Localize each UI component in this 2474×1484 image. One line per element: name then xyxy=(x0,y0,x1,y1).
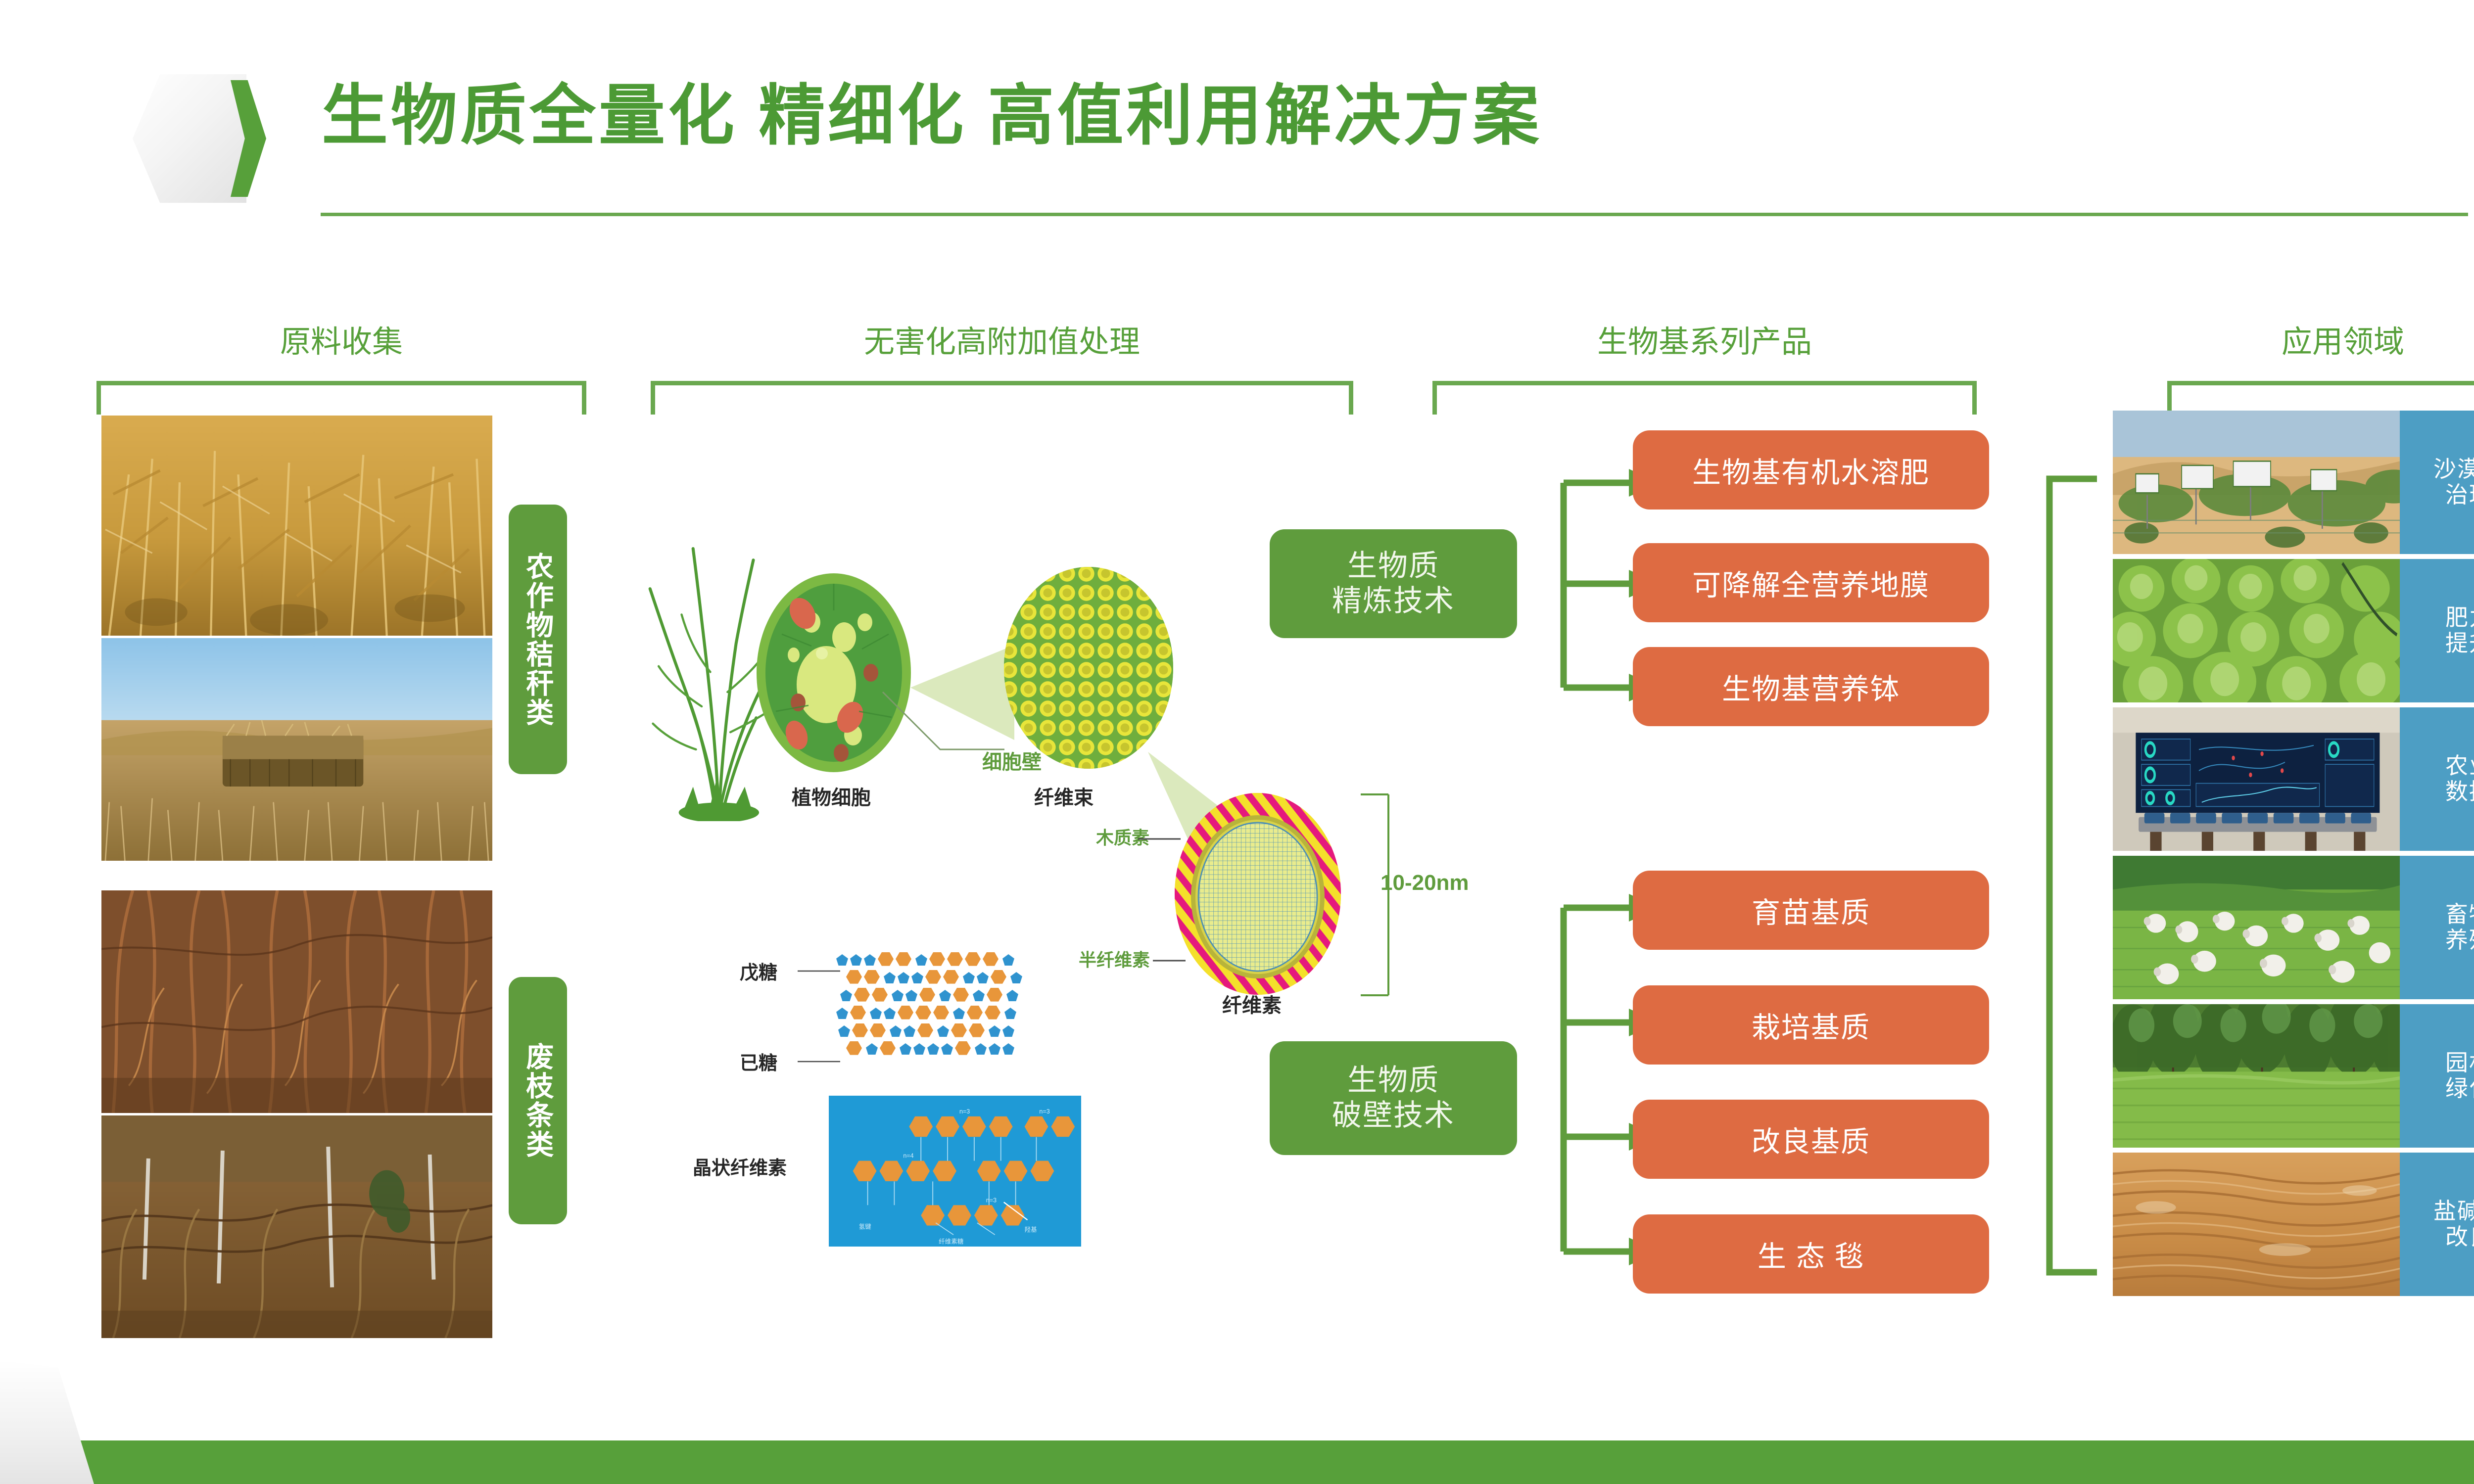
tech-refining-line1: 生物质 xyxy=(1347,549,1439,584)
product-pill-degradable-mulch-film[interactable]: 可降解全营养地膜 xyxy=(1633,543,1989,622)
tech-refining-line2: 精炼技术 xyxy=(1332,584,1455,619)
application-label-soil-fertility: 肥力 提升 xyxy=(2400,559,2474,702)
app-desert-line1: 沙漠化 xyxy=(2433,457,2474,482)
app-saline-line2: 改良 xyxy=(2445,1224,2474,1250)
label-cell-wall: 细胞壁 xyxy=(982,746,1042,775)
svg-text:n=3: n=3 xyxy=(986,1197,997,1204)
tech-breaking-line1: 生物质 xyxy=(1347,1063,1439,1098)
section-header-collection: 原料收集 xyxy=(129,317,554,361)
vertical-tag-crop-straw: 农作物秸秆类 xyxy=(509,505,567,774)
hexose-leader-line xyxy=(798,1059,842,1064)
product-pill-nutrition-pot[interactable]: 生物基营养钵 xyxy=(1633,647,1989,726)
product-pill-cultivation-substrate[interactable]: 栽培基质 xyxy=(1633,985,1989,1065)
app-livestock-line1: 畜牧 xyxy=(2445,902,2474,927)
photo-dry-branches xyxy=(101,890,492,1113)
app-desert-line2: 治理 xyxy=(2445,482,2474,508)
fiber-bundle-illustration xyxy=(999,564,1178,772)
page-title: 生物质全量化 精细化 高值利用解决方案 xyxy=(322,83,1542,149)
crystalline-cellulose-panel: n=3n=3 n=4n=3 氢键羟基 纤维素糖 xyxy=(829,1096,1081,1247)
label-hexose: 已糖 xyxy=(740,1048,777,1075)
infographic-canvas: 生物质全量化 精细化 高值利用解决方案 原料收集 无害化高附加值处理 生物基系列… xyxy=(0,0,2474,1484)
application-row-livestock[interactable]: 畜牧 养殖 xyxy=(2113,856,2474,999)
bracket-applications xyxy=(2167,381,2474,415)
footer-green-bar xyxy=(0,1440,2474,1484)
photo-desert-restoration xyxy=(2113,411,2400,554)
application-label-saline-alkali: 盐碱地 改良 xyxy=(2400,1153,2474,1296)
photo-saline-soil-field xyxy=(2113,1153,2400,1296)
application-label-landscaping: 园林 绿化 xyxy=(2400,1004,2474,1148)
svg-text:n=3: n=3 xyxy=(1039,1108,1049,1115)
photo-corn-stover xyxy=(101,416,492,636)
svg-text:氢键: 氢键 xyxy=(859,1223,872,1230)
hemicellulose-leader-line xyxy=(1153,958,1188,964)
app-livestock-line2: 养殖 xyxy=(2445,927,2474,953)
scale-dimension-bracket xyxy=(1361,791,1395,999)
cellulose-cross-section-illustration xyxy=(1163,787,1356,1004)
tech-box-refining[interactable]: 生物质 精炼技术 xyxy=(1270,529,1517,638)
label-plant-cell: 植物细胞 xyxy=(792,782,871,810)
label-pentose: 戊糖 xyxy=(740,957,777,984)
app-fertility-line1: 肥力 xyxy=(2445,605,2474,631)
application-row-soil-fertility[interactable]: 肥力 提升 xyxy=(2113,559,2474,702)
photo-park-lawn xyxy=(2113,1004,2400,1148)
section-header-products: 生物基系列产品 xyxy=(1420,317,1989,361)
app-landscape-line1: 园林 xyxy=(2445,1050,2474,1076)
app-saline-line1: 盐碱地 xyxy=(2433,1199,2474,1224)
photo-orchard-pruning xyxy=(101,1115,492,1338)
section-header-applications: 应用领域 xyxy=(2108,317,2474,361)
application-label-desertification: 沙漠化 治理 xyxy=(2400,411,2474,554)
product-pill-improvement-substrate[interactable]: 改良基质 xyxy=(1633,1100,1989,1179)
footer-wedge-decoration xyxy=(0,1360,94,1484)
svg-text:羟基: 羟基 xyxy=(1025,1226,1038,1233)
pentose-leader-line xyxy=(798,969,842,974)
svg-text:n=3: n=3 xyxy=(959,1108,970,1115)
bracket-products xyxy=(1432,381,1977,415)
photo-sheep-pasture xyxy=(2113,856,2400,999)
applications-group-bracket xyxy=(2042,475,2101,1276)
label-cellulose: 纤维素 xyxy=(1222,989,1282,1018)
vertical-tag-waste-branch: 废枝条类 xyxy=(509,977,567,1224)
scale-label: 10-20nm xyxy=(1380,871,1469,895)
bracket-collection xyxy=(96,381,586,415)
product-pill-water-soluble-fertilizer[interactable]: 生物基有机水溶肥 xyxy=(1633,430,1989,510)
tech-breaking-line2: 破壁技术 xyxy=(1332,1098,1455,1133)
application-row-agri-data[interactable]: 农业 数据 xyxy=(2113,707,2474,851)
product-pill-seedling-substrate[interactable]: 育苗基质 xyxy=(1633,871,1989,950)
bracket-processing xyxy=(651,381,1353,415)
app-fertility-line2: 提升 xyxy=(2445,631,2474,656)
hexagon-logo-decoration xyxy=(133,74,276,203)
label-fiber-bundle: 纤维束 xyxy=(1034,782,1094,810)
svg-text:纤维素糖: 纤维素糖 xyxy=(939,1238,964,1245)
application-label-agri-data: 农业 数据 xyxy=(2400,707,2474,851)
application-row-landscaping[interactable]: 园林 绿化 xyxy=(2113,1004,2474,1148)
product-pill-ecological-blanket[interactable]: 生 态 毯 xyxy=(1633,1214,1989,1294)
photo-straw-bale xyxy=(101,638,492,861)
photo-data-control-room xyxy=(2113,707,2400,851)
app-landscape-line2: 绿化 xyxy=(2445,1076,2474,1102)
tech-box-cell-wall-breaking[interactable]: 生物质 破壁技术 xyxy=(1270,1041,1517,1155)
application-row-saline-alkali[interactable]: 盐碱地 改良 xyxy=(2113,1153,2474,1296)
photo-cabbage-field xyxy=(2113,559,2400,702)
label-crystalline-cellulose: 晶状纤维素 xyxy=(693,1153,787,1180)
application-row-desertification[interactable]: 沙漠化 治理 xyxy=(2113,411,2474,554)
title-underline-divider xyxy=(321,213,2468,216)
hexagon-shape-icon xyxy=(133,74,246,203)
svg-text:n=4: n=4 xyxy=(903,1153,913,1159)
section-header-processing: 无害化高附加值处理 xyxy=(648,317,1356,361)
sugar-chain-illustration xyxy=(836,952,1094,1081)
app-data-line1: 农业 xyxy=(2445,753,2474,779)
app-data-line2: 数据 xyxy=(2445,779,2474,805)
lignin-leader-line xyxy=(1138,836,1183,842)
application-label-livestock: 畜牧 养殖 xyxy=(2400,856,2474,999)
